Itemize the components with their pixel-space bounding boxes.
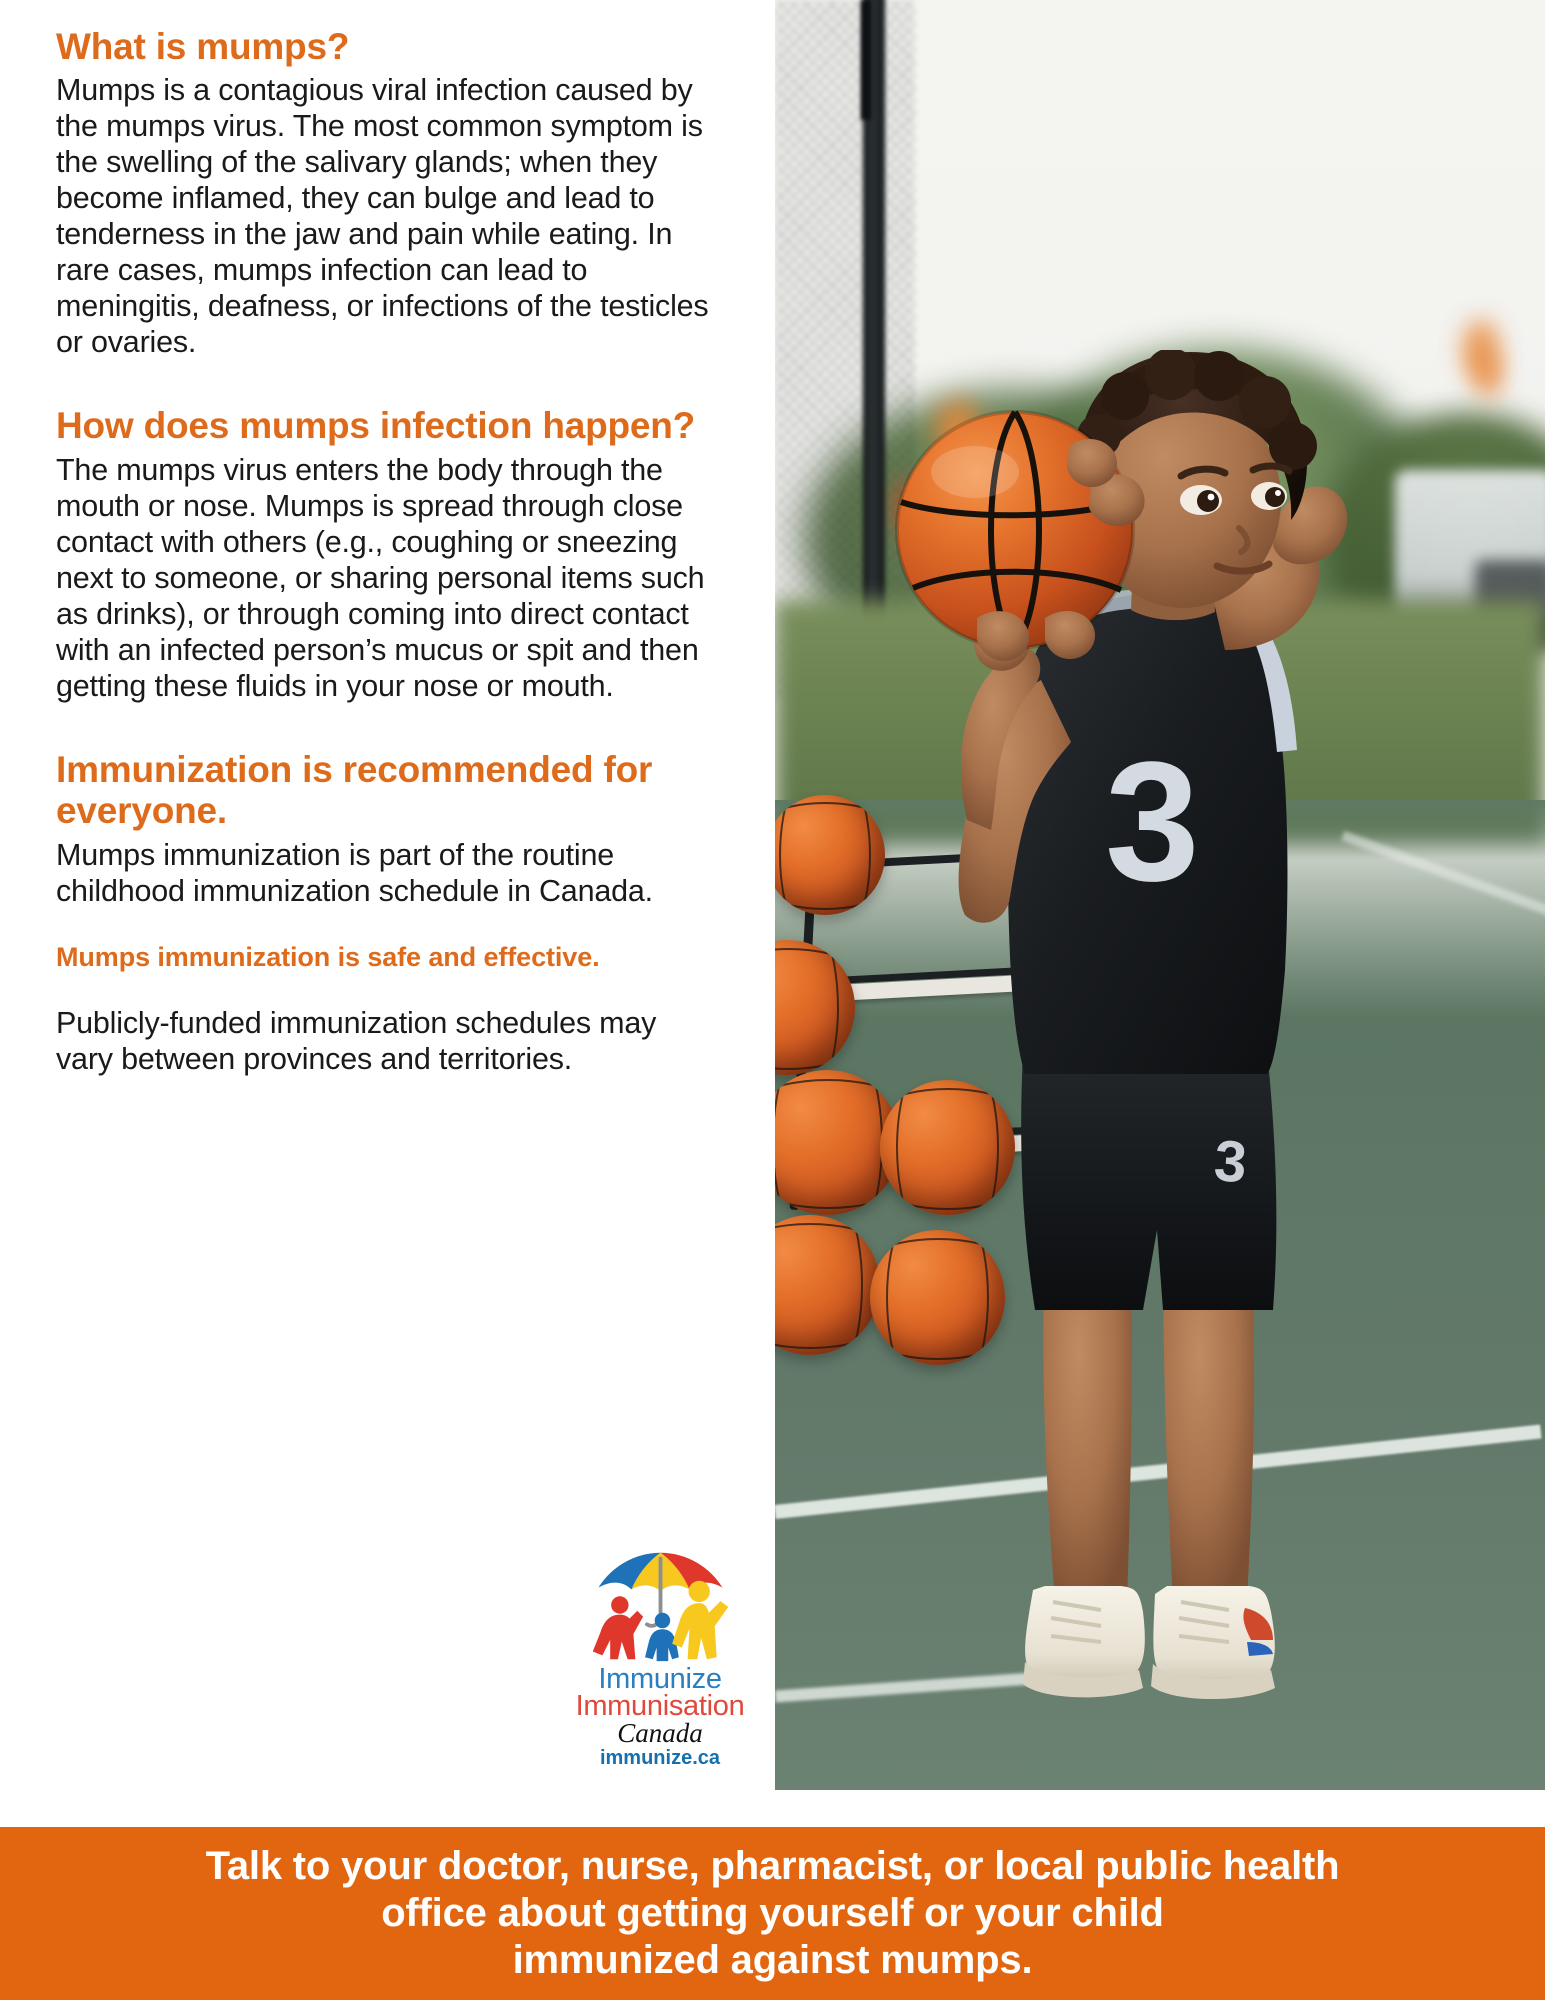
section-highlight-safe-and-effective: Mumps immunization is safe and effective… bbox=[56, 941, 719, 973]
spacer bbox=[56, 705, 719, 749]
logo-wordmark: Immunize Immunisation Canada immunize.ca bbox=[560, 1665, 760, 1768]
section-heading-how-does-infection-happen: How does mumps infection happen? bbox=[56, 405, 719, 446]
banner-line-3: immunized against mumps. bbox=[206, 1937, 1340, 1984]
photo-basketball bbox=[775, 1215, 880, 1355]
spacer bbox=[56, 909, 719, 941]
photo-background-blur bbox=[1475, 352, 1501, 398]
poster-page: 3 3 bbox=[0, 0, 1545, 2000]
photo-basketball bbox=[775, 795, 885, 915]
logo-line-immunisation: Immunisation bbox=[560, 1692, 760, 1721]
section-note-publicly-funded: Publicly-funded immunization schedules m… bbox=[56, 1006, 719, 1078]
call-to-action-text: Talk to your doctor, nurse, pharmacist, … bbox=[166, 1843, 1380, 1985]
photo-basketball bbox=[775, 940, 855, 1075]
section-body-how-does-infection-happen: The mumps virus enters the body through … bbox=[56, 453, 719, 705]
logo-website[interactable]: immunize.ca bbox=[560, 1748, 760, 1768]
photo-fence-pole bbox=[861, 0, 871, 120]
section-body-what-is-mumps: Mumps is a contagious viral infection ca… bbox=[56, 73, 719, 361]
spacer bbox=[56, 361, 719, 405]
svg-text:3: 3 bbox=[1105, 727, 1200, 917]
section-body-immunization-recommended: Mumps immunization is part of the routin… bbox=[56, 838, 719, 910]
section-heading-what-is-mumps: What is mumps? bbox=[56, 26, 719, 67]
banner-line-2: office about getting yourself or your ch… bbox=[206, 1890, 1340, 1937]
immunize-canada-logo[interactable]: Immunize Immunisation Canada immunize.ca bbox=[560, 1545, 760, 1775]
content-column: What is mumps? Mumps is a contagious vir… bbox=[0, 0, 775, 1790]
spacer bbox=[56, 974, 719, 1006]
photo-fence bbox=[775, 0, 915, 700]
call-to-action-banner: Talk to your doctor, nurse, pharmacist, … bbox=[0, 1827, 1545, 2000]
umbrella-figures-icon bbox=[583, 1545, 738, 1665]
svg-text:3: 3 bbox=[1212, 1128, 1249, 1195]
logo-line-canada: Canada bbox=[560, 1720, 760, 1747]
banner-line-1: Talk to your doctor, nurse, pharmacist, … bbox=[206, 1843, 1340, 1890]
photo-child-figure: 3 3 bbox=[895, 350, 1415, 1790]
section-heading-immunization-recommended: Immunization is recommended for everyone… bbox=[56, 749, 719, 832]
child-holding-basketball-photo: 3 3 bbox=[775, 0, 1545, 1790]
